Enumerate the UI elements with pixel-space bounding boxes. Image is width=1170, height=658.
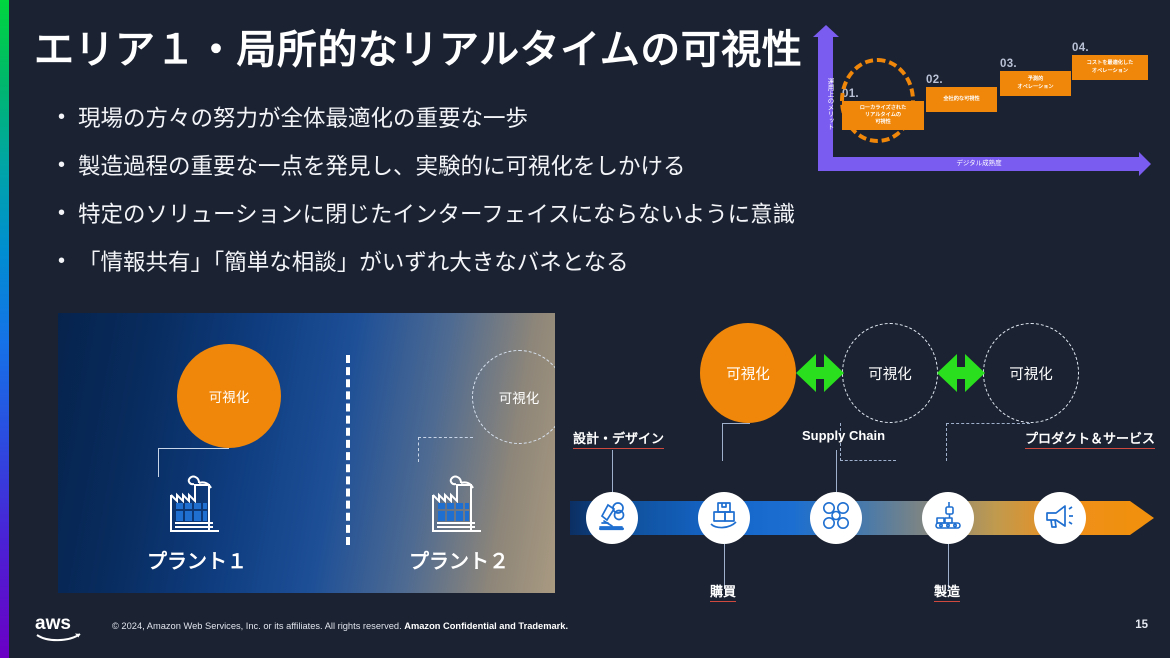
bullet-marker: • xyxy=(58,250,78,273)
plant1-label: プラント１ xyxy=(142,551,252,573)
plant2-label: プラント２ xyxy=(404,551,514,573)
maturity-step-number: 02. xyxy=(926,74,997,86)
maturity-step-03: 03. 予測的オペレーション xyxy=(1000,58,1071,96)
conveyor-robot-icon xyxy=(931,499,965,538)
value-chain-diagram: 可視化 可視化 可視化 xyxy=(570,313,1170,603)
bullet-text: 製造過程の重要な一点を発見し、実験的に可視化をしかける xyxy=(78,154,798,180)
bullet-text: 現場の方々の努力が全体最適化の重要な一歩 xyxy=(78,106,798,132)
maturity-y-axis-label: 運用上のメリット xyxy=(818,56,833,152)
chain-label-design: 設計・デザイン xyxy=(573,428,664,449)
footer-confidential-text: Amazon Confidential and Trademark. xyxy=(404,621,568,631)
visibility-circle-dashed: 可視化 xyxy=(842,323,938,423)
bullet-text: 特定のソリューションに閉じたインターフェイスにならないように意識 xyxy=(78,202,798,228)
visibility-connector-1 xyxy=(722,423,750,461)
visibility-connector-3 xyxy=(946,423,1030,461)
maturity-step-04: 04. コストを最適化したオペレーション xyxy=(1072,42,1148,80)
visibility-circle-filled: 可視化 xyxy=(700,323,796,423)
chain-node-product-service[interactable] xyxy=(1034,492,1086,544)
plant1-visibility-circle: 可視化 xyxy=(177,344,281,448)
maturity-step-label: 全社的な可視性 xyxy=(926,87,997,112)
green-exchange-arrow-icon xyxy=(796,351,844,400)
bullet-marker: • xyxy=(58,154,78,177)
bullet-list: • 現場の方々の努力が全体最適化の重要な一歩 • 製造過程の重要な一点を発見し、… xyxy=(58,106,798,298)
bullet-text: 「情報共有」「簡単な相談」がいずれ大きなバネとなる xyxy=(78,250,798,276)
list-item: • 現場の方々の努力が全体最適化の重要な一歩 xyxy=(58,106,798,132)
svg-text:aws: aws xyxy=(35,613,71,634)
plant-divider-line xyxy=(346,355,350,545)
chain-node-procurement[interactable] xyxy=(698,492,750,544)
maturity-step-number: 04. xyxy=(1072,42,1148,54)
list-item: • 製造過程の重要な一点を発見し、実験的に可視化をしかける xyxy=(58,154,798,180)
maturity-chart: 運用上のメリット デジタル成熟度 01. ローカライズされたリアルタイムの可視性… xyxy=(812,30,1160,175)
list-item: • 特定のソリューションに閉じたインターフェイスにならないように意識 xyxy=(58,202,798,228)
supply-network-icon xyxy=(819,499,853,538)
chain-label-procurement: 購買 xyxy=(710,581,736,602)
footer-copyright-text: © 2024, Amazon Web Services, Inc. or its… xyxy=(112,621,404,631)
maturity-highlight-circle xyxy=(840,58,915,143)
chain-label-product-service: プロダクト＆サービス xyxy=(1025,428,1155,449)
node3-stem xyxy=(836,450,837,492)
plant2-connector xyxy=(418,437,473,462)
maturity-step-number: 03. xyxy=(1000,58,1071,70)
inventory-box-icon xyxy=(707,499,741,538)
green-exchange-arrow-icon xyxy=(937,351,985,400)
footer-copyright: © 2024, Amazon Web Services, Inc. or its… xyxy=(112,621,568,631)
maturity-x-axis-label: デジタル成熟度 xyxy=(818,157,1140,171)
chain-node-design[interactable] xyxy=(586,492,638,544)
chain-label-manufacturing: 製造 xyxy=(934,581,960,602)
page-number: 15 xyxy=(1135,619,1148,631)
maturity-step-label: コストを最適化したオペレーション xyxy=(1072,55,1148,80)
value-chain-arrowhead xyxy=(1130,501,1154,535)
factory-icon xyxy=(421,473,491,546)
bullet-marker: • xyxy=(58,106,78,129)
list-item: • 「情報共有」「簡単な相談」がいずれ大きなバネとなる xyxy=(58,250,798,276)
chain-node-supply-chain[interactable] xyxy=(810,492,862,544)
maturity-step-label: 予測的オペレーション xyxy=(1000,71,1071,96)
chain-node-manufacturing[interactable] xyxy=(922,492,974,544)
factory-icon xyxy=(159,473,229,546)
plant2-visibility-circle: 可視化 xyxy=(472,350,555,444)
microscope-icon xyxy=(595,499,629,538)
maturity-step-02: 02. 全社的な可視性 xyxy=(926,74,997,112)
bullet-marker: • xyxy=(58,202,78,225)
page-title: エリア１・局所的なリアルタイムの可視性 xyxy=(34,17,802,75)
node1-stem xyxy=(612,450,613,492)
accent-gradient-bar xyxy=(0,0,9,658)
visibility-circle-dashed: 可視化 xyxy=(983,323,1079,423)
megaphone-icon xyxy=(1043,499,1077,538)
chain-label-supply-chain: Supply Chain xyxy=(802,428,885,445)
aws-logo: aws xyxy=(35,612,85,649)
